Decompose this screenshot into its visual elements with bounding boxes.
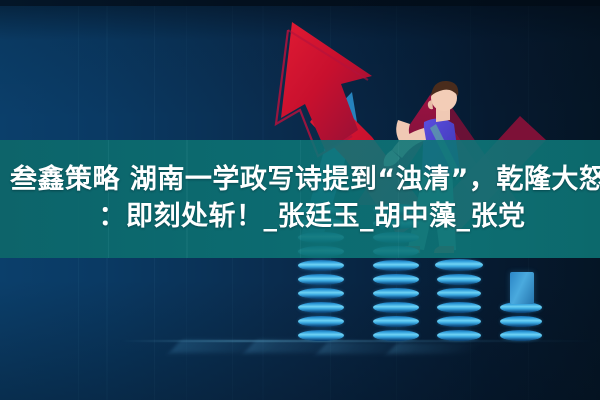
caption-line-2: ：即刻处斩！_张廷玉_胡中藻_张党: [99, 200, 526, 235]
image-canvas: 叁鑫策略 湖南一学政写诗提到“浊清”，乾隆大怒 ：即刻处斩！_张廷玉_胡中藻_张…: [0, 0, 600, 400]
caption-text-block: 叁鑫策略 湖南一学政写诗提到“浊清”，乾隆大怒 ：即刻处斩！_张廷玉_胡中藻_张…: [0, 140, 600, 258]
caption-line-1: 叁鑫策略 湖南一学政写诗提到“浊清”，乾隆大怒: [10, 163, 600, 198]
banknote-block: [510, 272, 534, 304]
stack-4-shadow: [387, 343, 482, 354]
